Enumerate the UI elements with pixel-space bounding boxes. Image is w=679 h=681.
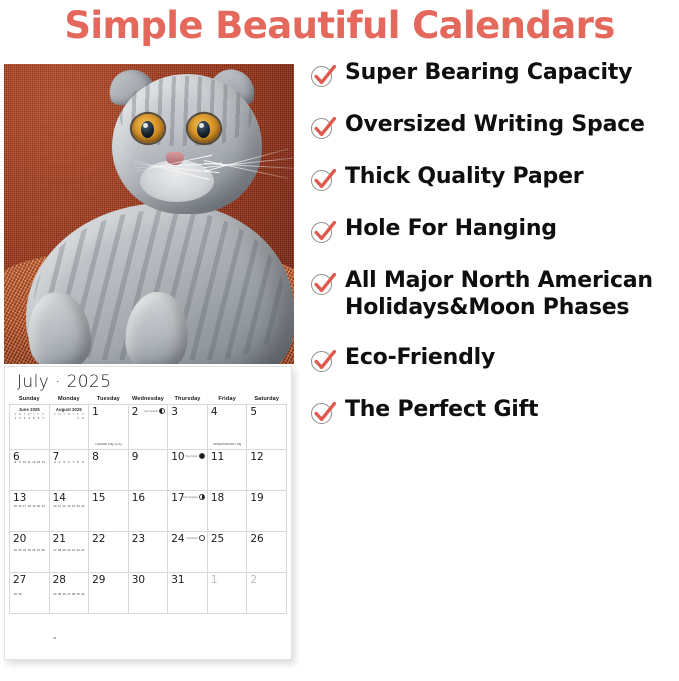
calendar-day-cell[interactable]: 1 bbox=[207, 573, 247, 614]
day-number: 20 bbox=[13, 533, 26, 545]
day-number: 8 bbox=[92, 451, 99, 463]
feature-label: Thick Quality Paper bbox=[345, 164, 583, 191]
weekday-header: Friday bbox=[207, 395, 247, 405]
feature-label-line: Hole For Hanging bbox=[345, 216, 557, 243]
calendar-day-cell[interactable]: 5 bbox=[247, 405, 287, 450]
holiday-label: Canada Day (CA) bbox=[91, 443, 126, 447]
moon-phase-label: New Moon bbox=[185, 455, 197, 458]
weekday-header: Thursday bbox=[168, 395, 208, 405]
moon-full-icon bbox=[199, 535, 205, 541]
moon-phase-label: First Quarter bbox=[183, 496, 198, 499]
day-number: 23 bbox=[132, 533, 145, 545]
calendar-day-cell[interactable]: 25 bbox=[207, 532, 247, 573]
calendar-day-cell[interactable]: 2Last Quarter bbox=[128, 405, 168, 450]
day-number: 1 bbox=[92, 406, 99, 418]
calendar-day-cell[interactable]: 23 bbox=[128, 532, 168, 573]
calendar-day-cell[interactable]: 3 bbox=[168, 405, 208, 450]
moon-phase-label: Last Quarter bbox=[144, 410, 158, 413]
calendar-day-cell[interactable]: 21 bbox=[49, 532, 89, 573]
feature-label: The Perfect Gift bbox=[345, 397, 538, 424]
calendar-day-cell[interactable]: 28 bbox=[49, 573, 89, 614]
day-number: 16 bbox=[132, 492, 145, 504]
day-number: 4 bbox=[211, 406, 218, 418]
feature-label: Hole For Hanging bbox=[345, 216, 557, 243]
feature-label: Eco-Friendly bbox=[345, 345, 495, 372]
feature-item: Eco-Friendly bbox=[310, 345, 679, 374]
day-number: 31 bbox=[171, 574, 184, 586]
day-number: 15 bbox=[92, 492, 105, 504]
feature-label-line: All Major North American bbox=[345, 268, 653, 295]
calendar-day-cell[interactable]: 22 bbox=[89, 532, 129, 573]
calendar-day-cell[interactable]: 17First Quarter bbox=[168, 491, 208, 532]
cat-photo bbox=[4, 64, 294, 364]
calendar-day-cell[interactable]: 19 bbox=[247, 491, 287, 532]
calendar-day-cell[interactable]: 15 bbox=[89, 491, 129, 532]
page-title: Simple Beautiful Calendars bbox=[0, 4, 679, 47]
check-circle-icon bbox=[310, 348, 336, 374]
calendar-day-cell[interactable]: 26 bbox=[247, 532, 287, 573]
day-number: 24 bbox=[171, 533, 184, 545]
calendar-day-cell[interactable]: 9 bbox=[128, 450, 168, 491]
weekday-header: Tuesday bbox=[89, 395, 129, 405]
holiday-label: Independence Day bbox=[210, 443, 245, 447]
moon-phase-indicator: First Quarter bbox=[183, 494, 205, 500]
day-number: 27 bbox=[13, 574, 26, 586]
check-circle-icon bbox=[310, 271, 336, 297]
calendar-week-row: 678910New Moon1112 bbox=[10, 450, 287, 491]
calendar-day-cell[interactable]: 4Independence Day bbox=[207, 405, 247, 450]
day-number: 11 bbox=[211, 451, 224, 463]
day-number: 14 bbox=[53, 492, 66, 504]
day-number: 30 bbox=[132, 574, 145, 586]
feature-label: All Major North AmericanHolidays&Moon Ph… bbox=[345, 268, 653, 322]
weekday-header: Wednesday bbox=[128, 395, 168, 405]
cat-eye-left bbox=[132, 114, 164, 143]
calendar-day-cell[interactable]: 18 bbox=[207, 491, 247, 532]
feature-item: All Major North AmericanHolidays&Moon Ph… bbox=[310, 268, 679, 322]
moon-first-icon bbox=[199, 494, 205, 500]
feature-item: Super Bearing Capacity bbox=[310, 60, 679, 89]
day-number: 6 bbox=[13, 451, 20, 463]
feature-label-line: Eco-Friendly bbox=[345, 345, 495, 372]
day-number: 2 bbox=[250, 574, 257, 586]
calendar-day-cell[interactable]: 30 bbox=[128, 573, 168, 614]
calendar-day-cell[interactable]: 2 bbox=[247, 573, 287, 614]
day-number: 13 bbox=[13, 492, 26, 504]
calendar-day-cell[interactable]: June 2025SMTWTFS123456789101112131415161… bbox=[10, 405, 50, 450]
day-number: 26 bbox=[250, 533, 263, 545]
calendar-day-cell[interactable]: 13 bbox=[10, 491, 50, 532]
calendar-week-row: June 2025SMTWTFS123456789101112131415161… bbox=[10, 405, 287, 450]
moon-phase-indicator: New Moon bbox=[185, 453, 204, 459]
day-number: 12 bbox=[250, 451, 263, 463]
calendar-day-cell[interactable]: 20 bbox=[10, 532, 50, 573]
moon-last-icon bbox=[159, 408, 165, 414]
day-number: 25 bbox=[211, 533, 224, 545]
calendar-day-cell[interactable]: 24Full Moon bbox=[168, 532, 208, 573]
calendar-day-cell[interactable]: 6 bbox=[10, 450, 50, 491]
mini-day-cell bbox=[80, 637, 85, 681]
day-number: 21 bbox=[53, 533, 66, 545]
weekday-header: Sunday bbox=[10, 395, 50, 405]
calendar-day-cell[interactable]: 7 bbox=[49, 450, 89, 491]
day-number: 22 bbox=[92, 533, 105, 545]
feature-label-line: Super Bearing Capacity bbox=[345, 60, 632, 87]
day-number: 3 bbox=[171, 406, 178, 418]
day-number: 2 bbox=[132, 406, 139, 418]
calendar-week-row: 1314151617First Quarter1819 bbox=[10, 491, 287, 532]
calendar-day-cell[interactable]: 12 bbox=[247, 450, 287, 491]
feature-list: Super Bearing CapacityOversized Writing … bbox=[310, 60, 679, 426]
day-number: 5 bbox=[250, 406, 257, 418]
calendar-day-cell[interactable]: August 2025SMTWTFS1234567891011121314151… bbox=[49, 405, 89, 450]
calendar-week-row: 272829303112 bbox=[10, 573, 287, 614]
day-number: 28 bbox=[53, 574, 66, 586]
calendar-grid: SundayMondayTuesdayWednesdayThursdayFrid… bbox=[9, 395, 287, 614]
check-circle-icon bbox=[310, 400, 336, 426]
moon-phase-indicator: Last Quarter bbox=[144, 408, 165, 414]
weekday-header: Monday bbox=[49, 395, 89, 405]
check-circle-icon bbox=[310, 219, 336, 245]
calendar-weekday-header: SundayMondayTuesdayWednesdayThursdayFrid… bbox=[10, 395, 287, 405]
calendar-preview: July · 2025 SundayMondayTuesdayWednesday… bbox=[4, 366, 292, 660]
calendar-week-row: 2021222324Full Moon2526 bbox=[10, 532, 287, 573]
feature-item: Oversized Writing Space bbox=[310, 112, 679, 141]
calendar-day-cell[interactable]: 16 bbox=[128, 491, 168, 532]
calendar-day-cell[interactable]: 31 bbox=[168, 573, 208, 614]
calendar-body: June 2025SMTWTFS123456789101112131415161… bbox=[10, 405, 287, 614]
check-circle-icon bbox=[310, 115, 336, 141]
calendar-day-cell[interactable]: 10New Moon bbox=[168, 450, 208, 491]
day-number: 9 bbox=[132, 451, 139, 463]
feature-label-line: Holidays&Moon Phases bbox=[345, 295, 653, 322]
moon-new-icon bbox=[199, 453, 205, 459]
feature-label: Oversized Writing Space bbox=[345, 112, 645, 139]
weekday-header: Saturday bbox=[247, 395, 287, 405]
feature-item: Thick Quality Paper bbox=[310, 164, 679, 193]
cat-pupil-left bbox=[141, 121, 154, 138]
feature-item: The Perfect Gift bbox=[310, 397, 679, 426]
calendar-day-cell[interactable]: 29 bbox=[89, 573, 129, 614]
feature-label-line: Thick Quality Paper bbox=[345, 164, 583, 191]
mini-week-row: 31 bbox=[53, 637, 86, 681]
calendar-day-cell[interactable]: 14 bbox=[49, 491, 89, 532]
mini-calendar-title: June 2025 bbox=[13, 408, 46, 412]
moon-phase-label: Full Moon bbox=[186, 537, 197, 540]
mini-calendar-title: August 2025 bbox=[53, 408, 86, 412]
feature-label-line: The Perfect Gift bbox=[345, 397, 538, 424]
moon-phase-indicator: Full Moon bbox=[186, 535, 204, 541]
day-number: 18 bbox=[211, 492, 224, 504]
calendar-day-cell[interactable]: 1Canada Day (CA) bbox=[89, 405, 129, 450]
feature-label: Super Bearing Capacity bbox=[345, 60, 632, 87]
feature-label-line: Oversized Writing Space bbox=[345, 112, 645, 139]
check-circle-icon bbox=[310, 167, 336, 193]
product-preview-column: July · 2025 SundayMondayTuesdayWednesday… bbox=[4, 64, 294, 662]
calendar-day-cell[interactable]: 8 bbox=[89, 450, 129, 491]
calendar-month-title: July · 2025 bbox=[9, 370, 287, 395]
cat-pupil-right bbox=[197, 121, 210, 138]
day-number: 7 bbox=[53, 451, 60, 463]
calendar-day-cell[interactable]: 11 bbox=[207, 450, 247, 491]
day-number: 1 bbox=[211, 574, 218, 586]
calendar-day-cell[interactable]: 27 bbox=[10, 573, 50, 614]
day-number: 10 bbox=[171, 451, 184, 463]
day-number: 29 bbox=[92, 574, 105, 586]
check-circle-icon bbox=[310, 63, 336, 89]
day-number: 19 bbox=[250, 492, 263, 504]
feature-item: Hole For Hanging bbox=[310, 216, 679, 245]
cat-eye-right bbox=[188, 114, 220, 143]
